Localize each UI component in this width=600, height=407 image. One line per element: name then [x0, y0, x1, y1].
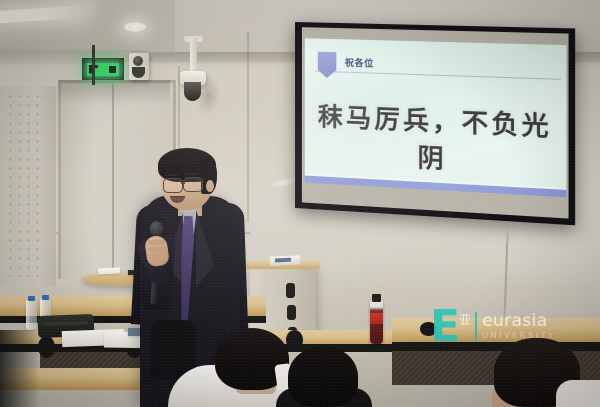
audience-member-white-shirt — [556, 380, 600, 407]
speaker-finger — [149, 254, 167, 259]
eyeglasses-right-lens-icon — [183, 177, 203, 192]
ceiling-bulkhead-lip — [0, 50, 148, 62]
slide-main-text: 秣马厉兵，不负光阴 — [305, 96, 566, 182]
slide-shield-icon — [317, 52, 336, 79]
door-seam — [112, 84, 114, 274]
emergency-exit-sign — [82, 58, 124, 80]
microphone-head — [150, 221, 163, 236]
wall-camera — [129, 53, 149, 80]
cola-bottle-label — [370, 313, 383, 324]
water-bottle-cap — [42, 295, 49, 300]
desk-bracket — [420, 322, 437, 336]
speaker-ear — [206, 180, 214, 192]
podium-handle[interactable] — [287, 305, 296, 320]
projection-screen-frame: 祝各位 秣马厉兵，不负光阴 — [295, 22, 575, 225]
papers-on-side-table — [98, 267, 120, 274]
perforation-pattern — [6, 92, 46, 277]
ceiling-conduit — [92, 45, 95, 85]
eyeglasses-left-lens-icon — [163, 178, 183, 193]
speaker-finger — [148, 247, 166, 252]
cola-bottle-cap — [372, 294, 381, 302]
speaker-finger — [148, 240, 166, 245]
audience-member-head — [288, 346, 358, 407]
desk-bracket — [286, 330, 303, 350]
ceiling-downlight — [124, 22, 146, 32]
wall-seam — [247, 32, 249, 222]
lecture-hall-photo: 祝各位 秣马厉兵，不负光阴 — [0, 0, 600, 407]
desk-bracket — [38, 336, 55, 358]
projection-screen: 祝各位 秣马厉兵，不负光阴 — [295, 22, 575, 225]
camera-mount-pole — [190, 38, 197, 74]
ceiling-camera-dome — [184, 82, 201, 101]
eyeglasses-bridge — [181, 182, 185, 184]
audience-member-silhouette — [0, 330, 40, 407]
water-bottle-cap — [28, 296, 35, 301]
presentation-slide: 祝各位 秣马厉兵，不负光阴 — [305, 38, 566, 197]
camera-lens-icon — [133, 56, 143, 66]
door-shadow — [58, 80, 170, 106]
document-on-podium — [270, 255, 300, 266]
water-bottle — [26, 300, 37, 330]
slide-header-rule — [315, 70, 561, 79]
podium-handle[interactable] — [286, 283, 295, 298]
slide-header-text: 祝各位 — [345, 55, 374, 69]
